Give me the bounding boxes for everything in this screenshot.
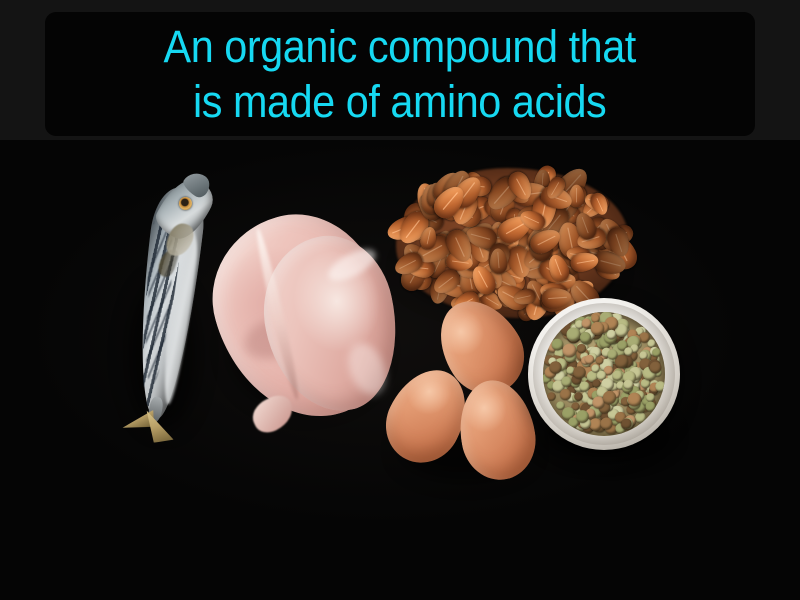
lentil xyxy=(567,327,581,341)
caption-line-2: is made of amino acids xyxy=(193,74,606,129)
lentil xyxy=(574,366,587,379)
chicken-breast xyxy=(210,202,405,442)
lentil xyxy=(612,371,622,381)
lentil xyxy=(646,393,655,402)
lentil xyxy=(627,392,641,406)
lentil xyxy=(607,349,617,359)
lentil xyxy=(601,417,613,429)
lentil xyxy=(652,348,661,357)
lentil xyxy=(606,330,615,339)
lentil xyxy=(602,391,615,404)
caption-line-1: An organic compound that xyxy=(164,19,636,74)
lentil xyxy=(635,412,646,423)
lentil xyxy=(589,418,601,430)
lentil xyxy=(548,392,557,401)
lentil xyxy=(621,418,631,428)
food-photograph xyxy=(0,140,800,600)
lentil xyxy=(574,392,583,401)
lentil xyxy=(655,381,665,391)
lentil xyxy=(640,379,649,388)
lentil xyxy=(592,379,600,387)
bowl-interior-lentils xyxy=(543,312,665,436)
lentil-bowl xyxy=(528,298,680,450)
lentil xyxy=(580,332,591,343)
lentil xyxy=(591,364,599,372)
lentil xyxy=(549,361,561,373)
lentil xyxy=(576,410,589,423)
fish-eye xyxy=(179,197,192,210)
lentil xyxy=(595,356,603,364)
lentil xyxy=(584,354,593,363)
screenshot-canvas: An organic compound that is made of amin… xyxy=(0,0,800,600)
caption-panel: An organic compound that is made of amin… xyxy=(45,12,755,136)
lentil xyxy=(576,344,585,353)
